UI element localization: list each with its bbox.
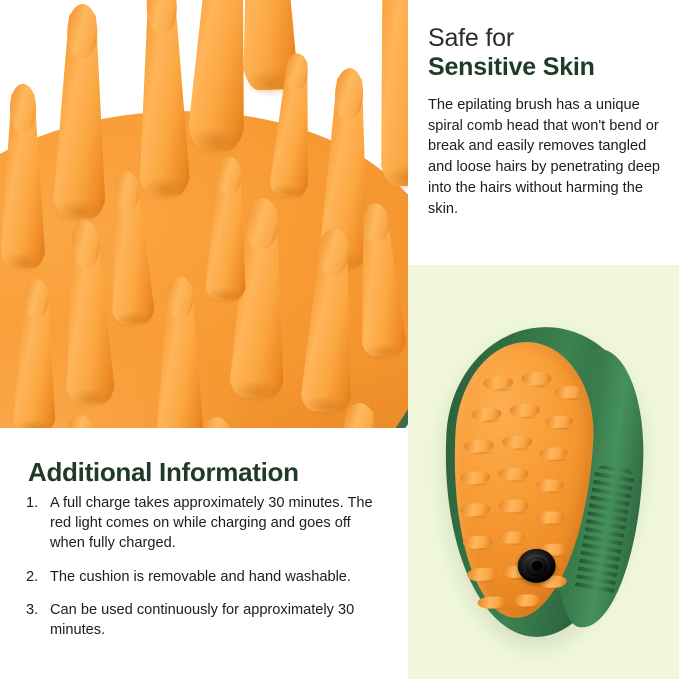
silicone-bristle xyxy=(330,406,387,428)
macro-photo-stage xyxy=(0,0,408,428)
list-item-text: A full charge takes approximately 30 min… xyxy=(50,495,373,551)
cushion-nub xyxy=(483,376,514,391)
cushion-nub xyxy=(514,594,540,606)
cushion-nub xyxy=(463,439,494,454)
cushion-nub xyxy=(460,471,491,486)
cushion-nub xyxy=(536,479,564,492)
cushion-nub xyxy=(499,499,529,513)
list-item: 2.The cushion is removable and hand wash… xyxy=(26,568,386,588)
silicone-bristle xyxy=(135,0,191,196)
bristle-tip xyxy=(71,220,101,268)
silicone-bristle xyxy=(0,88,46,268)
list-item-number: 1. xyxy=(26,494,46,514)
cushion-nub xyxy=(499,531,525,543)
cushion-nub xyxy=(467,567,498,582)
list-item: 3.Can be used continuously for approxima… xyxy=(26,601,386,641)
cushion-nub xyxy=(471,407,502,422)
silicone-bristle xyxy=(12,282,59,428)
product-photo-panel xyxy=(408,265,679,679)
additional-information-panel: Additional Information 1.A full charge t… xyxy=(0,428,408,679)
silicone-bristle xyxy=(204,159,251,300)
cushion-nub xyxy=(536,511,564,524)
list-item-text: Can be used continuously for approximate… xyxy=(50,602,354,638)
silicone-bristle xyxy=(52,8,110,219)
heading-line-safe-for: Safe for xyxy=(428,24,670,53)
cushion-nub xyxy=(460,503,491,518)
sensitive-skin-panel: Safe for Sensitive Skin The epilating br… xyxy=(408,0,679,265)
macro-bristle-photo-panel xyxy=(0,0,408,428)
bristle-tip xyxy=(67,4,98,59)
silicone-bristle xyxy=(52,417,105,428)
silicone-bristle xyxy=(104,173,156,325)
cushion-nub xyxy=(555,386,583,399)
silicone-bristle xyxy=(299,231,360,413)
list-item: 1.A full charge takes approximately 30 m… xyxy=(26,494,386,554)
silicone-bristle xyxy=(191,419,246,428)
list-item-text: The cushion is removable and hand washab… xyxy=(50,569,351,585)
bristle-tip xyxy=(10,84,36,131)
silicone-bristle xyxy=(156,280,204,428)
list-item-number: 2. xyxy=(26,568,46,588)
bristle-tip xyxy=(361,202,389,243)
cushion-nub xyxy=(521,372,551,386)
cushion-nub xyxy=(477,596,506,609)
bristle-tip xyxy=(344,403,375,428)
cushion-nub xyxy=(502,435,532,449)
heading-line-sensitive-skin: Sensitive Skin xyxy=(428,53,670,82)
cushion-nub xyxy=(539,447,567,460)
infographic-page: Safe for Sensitive Skin The epilating br… xyxy=(0,0,679,679)
pet-steam-brush xyxy=(436,322,648,642)
silicone-bristle xyxy=(368,0,408,187)
bristle-tip xyxy=(246,198,279,250)
bristle-tip xyxy=(24,279,49,318)
product-photo-stage xyxy=(408,265,679,679)
cushion-nub xyxy=(510,404,540,418)
sensitive-skin-body-text: The epilating brush has a unique spiral … xyxy=(428,95,672,219)
list-item-number: 3. xyxy=(26,601,46,621)
bristle-tip xyxy=(217,157,242,194)
bristle-tip xyxy=(114,171,141,211)
bristle-tip xyxy=(167,277,194,319)
cushion-nub xyxy=(545,415,573,428)
additional-information-list: 1.A full charge takes approximately 30 m… xyxy=(26,494,386,641)
sensitive-skin-heading: Safe for Sensitive Skin xyxy=(428,24,670,82)
cushion-nub xyxy=(498,467,528,481)
additional-information-title: Additional Information xyxy=(28,457,299,488)
cushion-nub xyxy=(462,535,493,550)
